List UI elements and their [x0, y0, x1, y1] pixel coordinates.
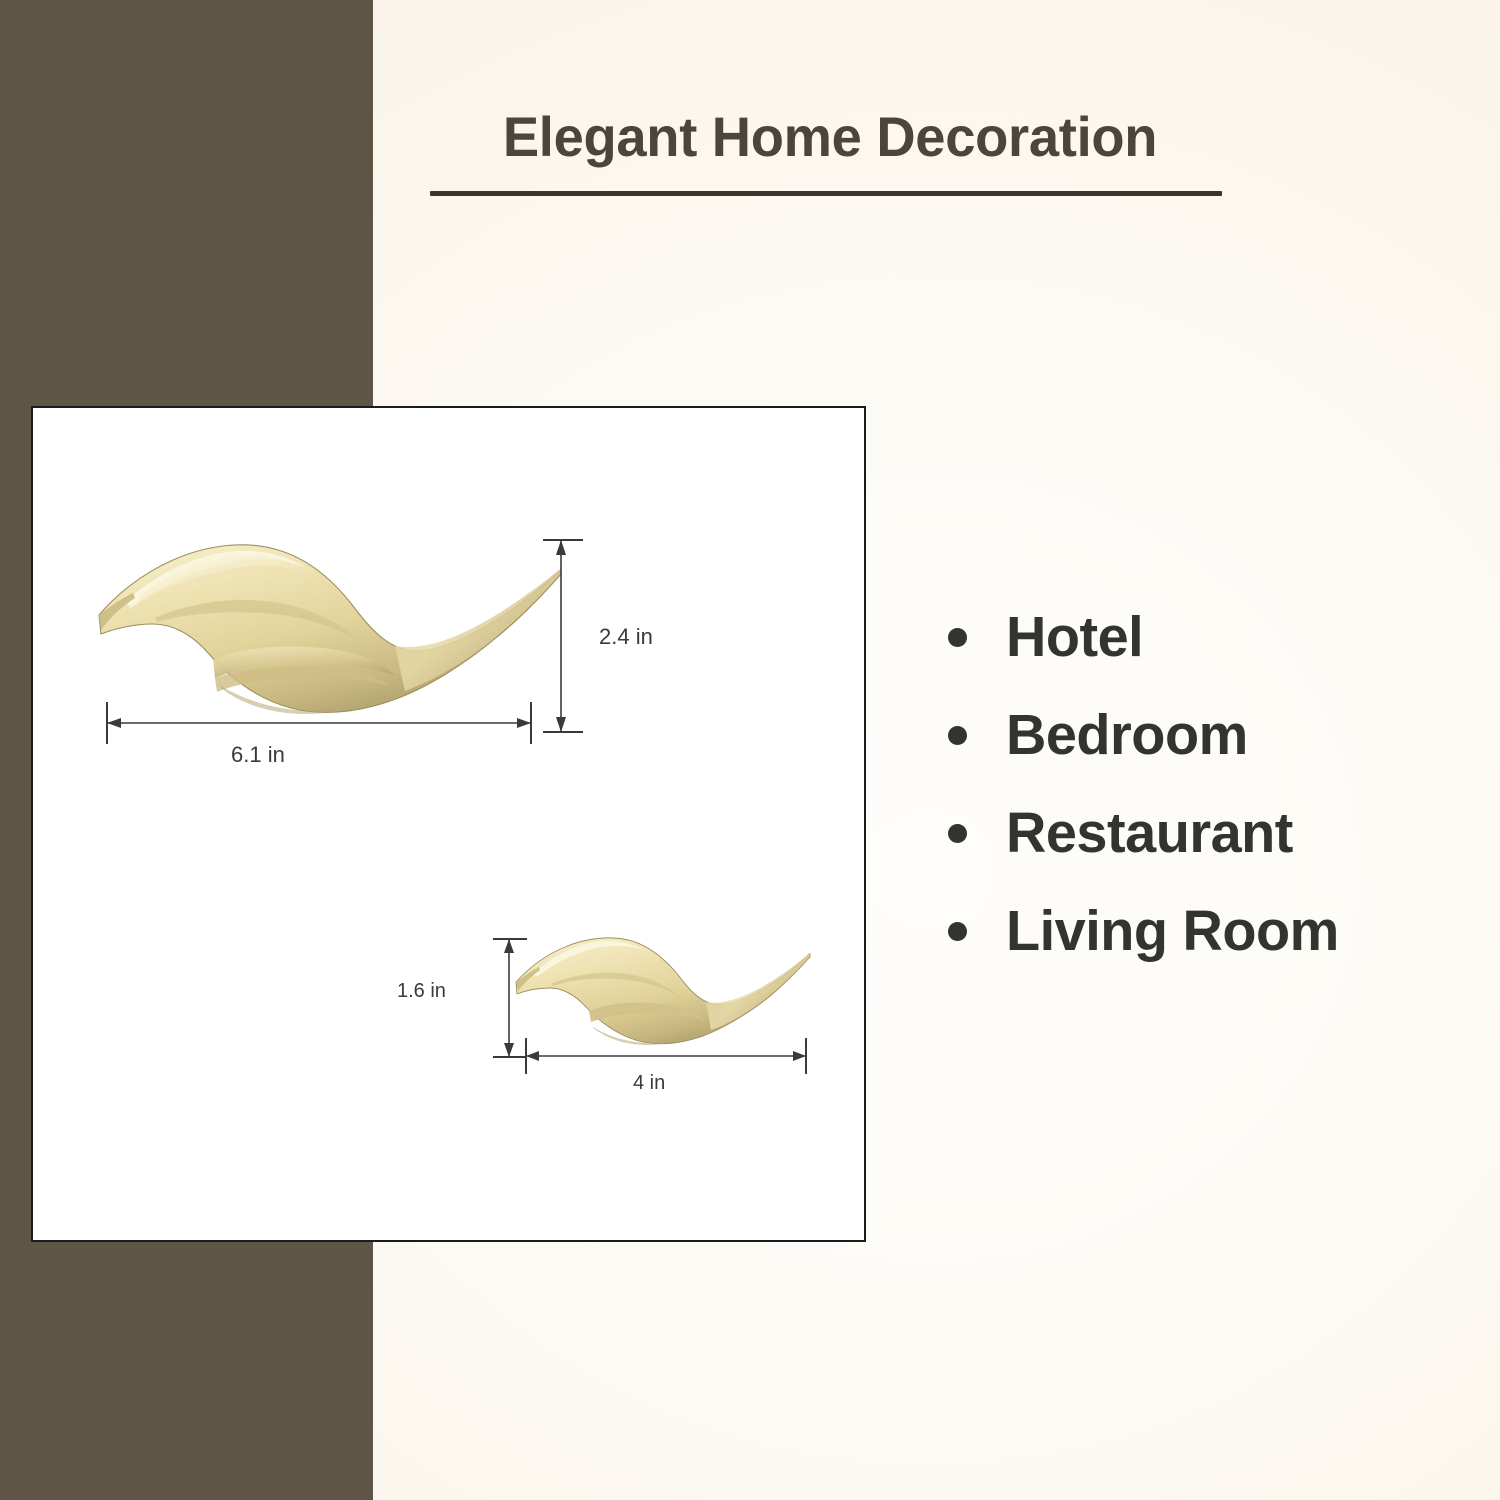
- product-photo-inner: 6.1 in 2.4 in 1.6 in: [33, 408, 864, 1240]
- product-photo-panel: 6.1 in 2.4 in 1.6 in: [31, 406, 866, 1242]
- page-title: Elegant Home Decoration: [442, 108, 1218, 167]
- large-bird-width-dimension: [99, 700, 539, 748]
- bullet-dot-icon: [948, 824, 967, 843]
- usage-item-label: Bedroom: [1006, 707, 1248, 764]
- list-item: Bedroom: [948, 686, 1488, 784]
- usage-item-label: Restaurant: [1006, 805, 1293, 862]
- list-item: Restaurant: [948, 784, 1488, 882]
- large-bird-height-label: 2.4 in: [599, 624, 653, 650]
- small-bird-height-label: 1.6 in: [397, 980, 446, 1003]
- large-bird-height-dimension: [533, 534, 589, 738]
- usage-bullet-list: Hotel Bedroom Restaurant Living Room: [948, 588, 1488, 980]
- title-block: Elegant Home Decoration: [430, 108, 1230, 196]
- list-item: Hotel: [948, 588, 1488, 686]
- usage-item-label: Hotel: [1006, 609, 1143, 666]
- bullet-dot-icon: [948, 628, 967, 647]
- infographic-canvas: Elegant Home Decoration: [0, 0, 1500, 1500]
- large-bird-width-label: 6.1 in: [231, 742, 285, 768]
- small-bird-width-label: 4 in: [633, 1072, 665, 1095]
- usage-item-label: Living Room: [1006, 903, 1339, 960]
- bullet-dot-icon: [948, 726, 967, 745]
- small-bird-width-dimension: [519, 1034, 813, 1078]
- title-underline-rule: [430, 191, 1222, 196]
- bullet-dot-icon: [948, 922, 967, 941]
- list-item: Living Room: [948, 882, 1488, 980]
- small-bird-tail-highlight: [706, 953, 810, 1030]
